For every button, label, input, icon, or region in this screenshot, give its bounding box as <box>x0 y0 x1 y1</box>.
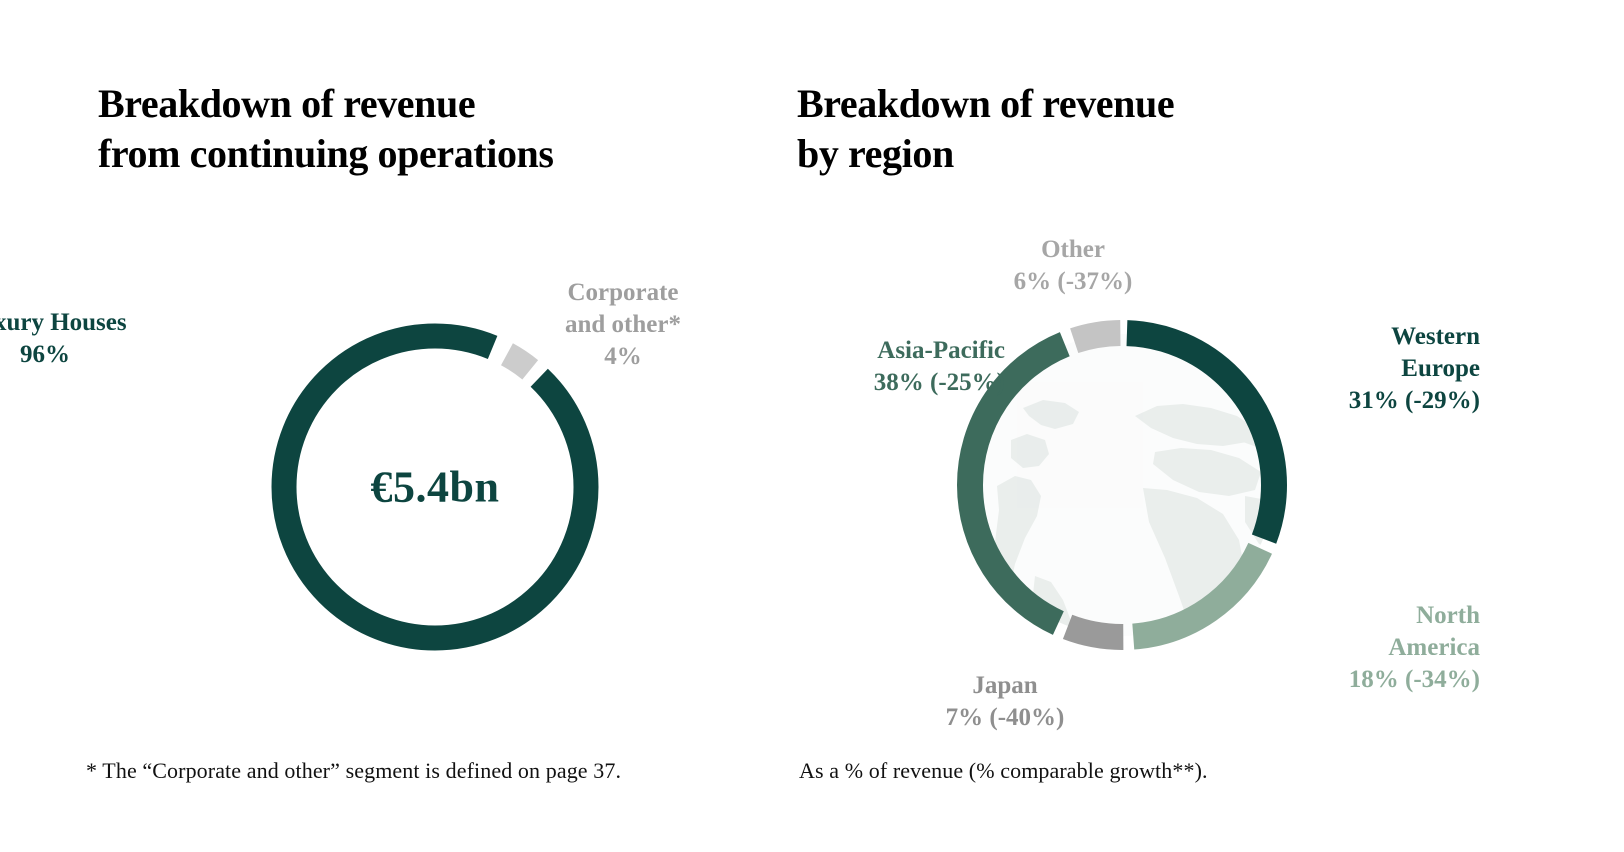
chart-label-asia-pacific: Asia-Pacific 38% (-25%) <box>775 335 1005 399</box>
page-title-right: Breakdown of revenue by region <box>797 79 1174 180</box>
footnote-left: * The “Corporate and other” segment is d… <box>86 758 621 784</box>
chart-label-corporate-and-other: Corporate and other* 4% <box>508 277 738 373</box>
chart-label-western-europe: Western Europe 31% (-29%) <box>1250 321 1480 417</box>
footnote-right: As a % of revenue (% comparable growth**… <box>799 758 1208 784</box>
chart-label-luxury-houses: Luxury Houses 96% <box>0 307 210 371</box>
chart-label-japan: Japan 7% (-40%) <box>890 670 1120 734</box>
chart-label-north-america: North America 18% (-34%) <box>1250 600 1480 696</box>
revenue-by-region-panel: Breakdown of revenue by region <box>780 0 1624 852</box>
page-title-left: Breakdown of revenue from continuing ope… <box>98 79 554 180</box>
donut-center-value: €5.4bn <box>245 462 625 513</box>
revenue-by-segment-panel: Breakdown of revenue from continuing ope… <box>0 0 780 852</box>
chart-label-other: Other 6% (-37%) <box>948 234 1198 298</box>
